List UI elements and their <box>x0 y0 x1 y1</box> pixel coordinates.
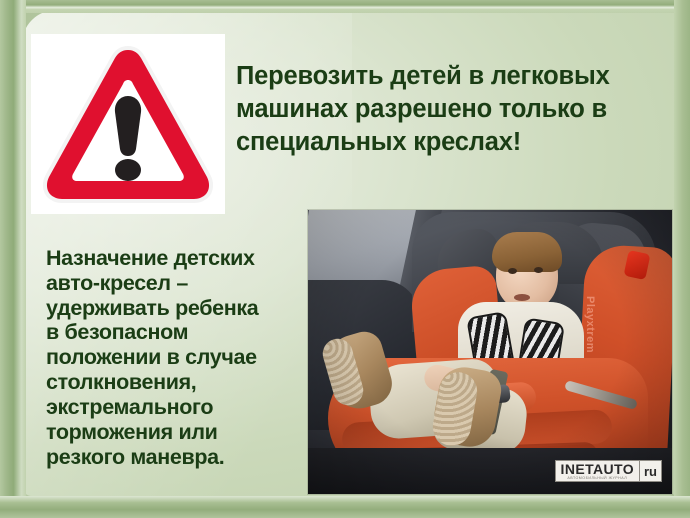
body-paragraph-text: Назначение детских авто-кресел – удержив… <box>46 246 308 469</box>
photo-child-mouth <box>514 294 530 301</box>
watermark: INETAUTO АВТОМОБИЛЬНЫЙ ЖУРНАЛ ru <box>555 460 662 482</box>
photo-seat-brand-label: Playxtrem <box>584 296 596 353</box>
watermark-tld: ru <box>640 460 662 482</box>
frame-band-top <box>0 0 690 13</box>
slide-canvas: Перевозить детей в легковых машинах разр… <box>0 0 690 518</box>
watermark-site-name: INETAUTO <box>561 462 634 476</box>
frame-band-bottom <box>0 496 690 518</box>
photo-child-eye-right <box>534 267 543 273</box>
photo-child-hair <box>492 232 562 272</box>
warning-sign-plate <box>31 34 225 214</box>
child-car-seat-photo: Playxtrem INETAUTO АВТОМОБИЛЬНЫЙ ЖУРНАЛ … <box>308 210 672 494</box>
watermark-subtitle: АВТОМОБИЛЬНЫЙ ЖУРНАЛ <box>567 477 627 481</box>
frame-band-left <box>0 0 26 518</box>
photo-child-eye-left <box>508 268 517 274</box>
warning-triangle-icon <box>31 34 225 214</box>
watermark-main-block: INETAUTO АВТОМОБИЛЬНЫЙ ЖУРНАЛ <box>555 460 640 482</box>
frame-band-right <box>674 0 690 518</box>
headline-text: Перевозить детей в легковых машинах разр… <box>236 60 646 159</box>
